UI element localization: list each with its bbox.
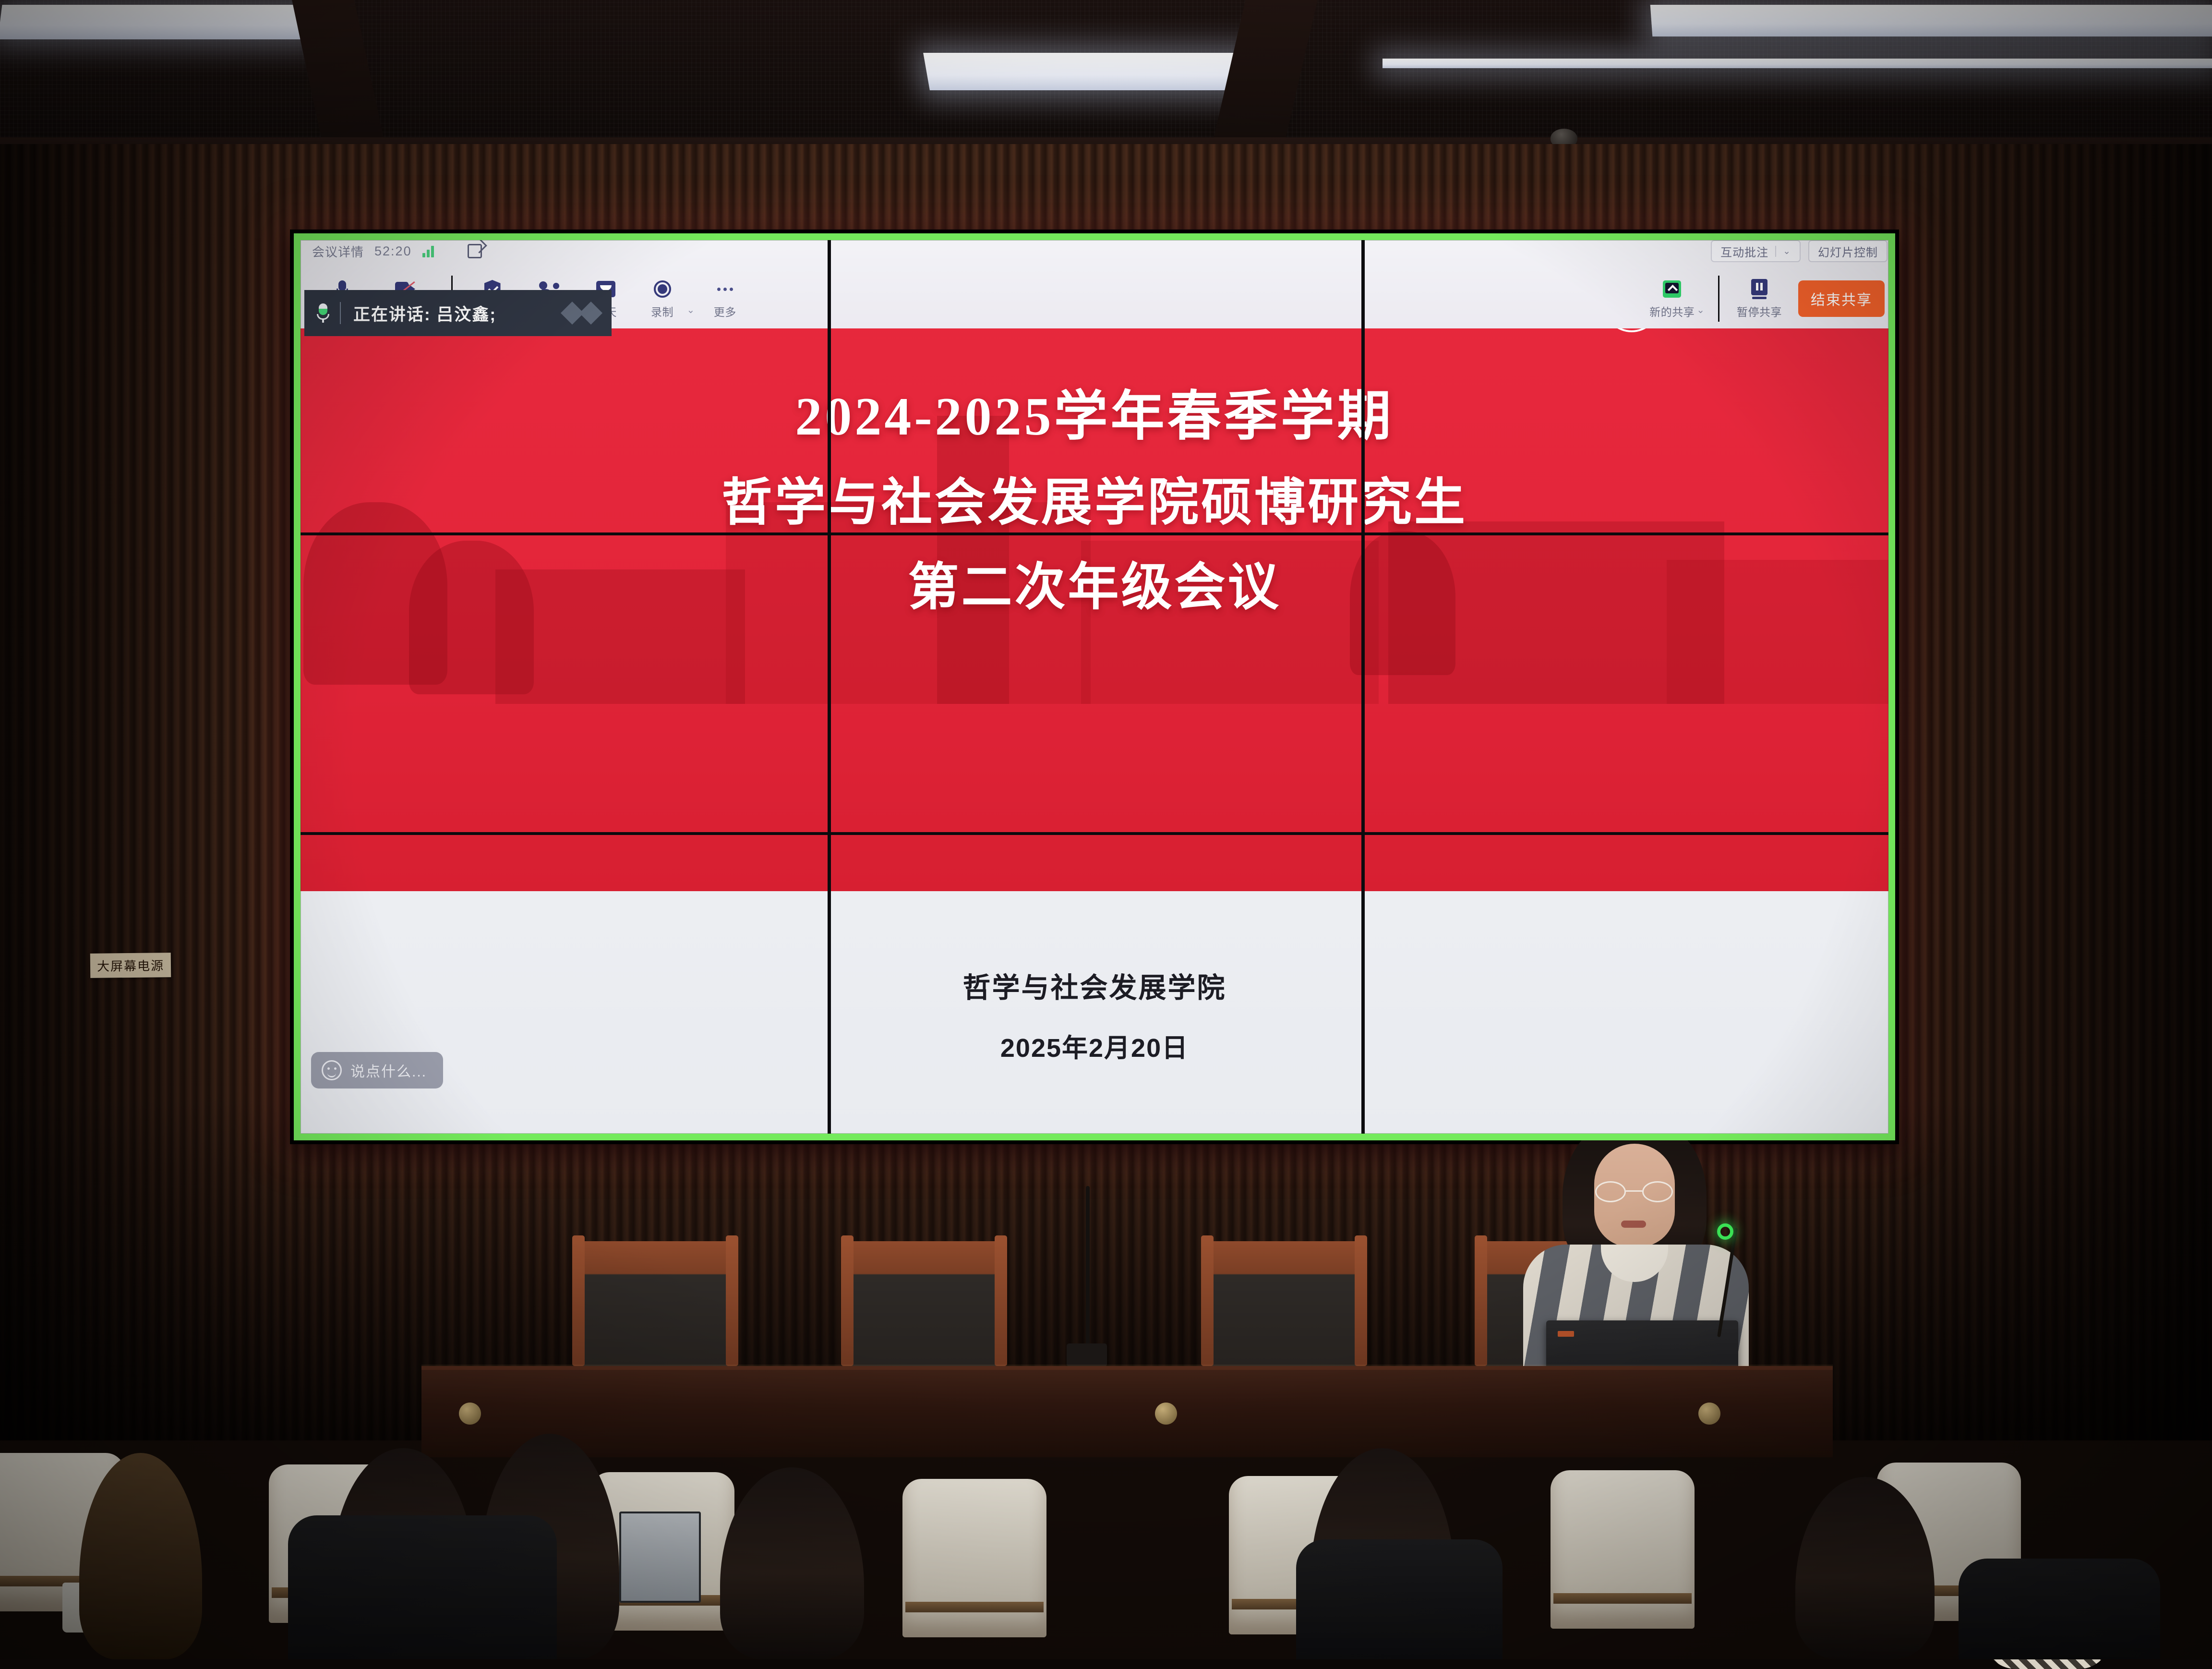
- chevron-down-icon[interactable]: ⌄: [1775, 246, 1791, 257]
- ceiling: [0, 0, 2212, 158]
- share-chevron-down-icon[interactable]: ⌄: [1696, 304, 1705, 316]
- audience-head: [720, 1467, 864, 1659]
- slide-footer-org: 哲学与社会发展学院: [294, 965, 1895, 1005]
- table-microphone-stand: [1086, 1186, 1090, 1349]
- new-share-button[interactable]: 新的共享: [1644, 278, 1700, 319]
- annotation-label: 互动批注: [1720, 243, 1768, 260]
- display-panel-seam: [294, 832, 1895, 835]
- meeting-timer: 52:20: [374, 244, 412, 259]
- audience-area: [0, 1391, 2212, 1659]
- slide-control-button[interactable]: 幻灯片控制: [1808, 240, 1887, 262]
- pause-share-icon: [1751, 278, 1767, 300]
- slide-title-line-1: 2024-2025学年春季学期: [294, 373, 1895, 450]
- slide-title-block: 2024-2025学年春季学期 哲学与社会发展学院硕博研究生 第二次年级会议: [294, 373, 1895, 619]
- annotation-button[interactable]: 互动批注 ⌄: [1711, 240, 1801, 262]
- audience-seat: [1551, 1470, 1695, 1629]
- display-panel-seam: [828, 233, 831, 1140]
- record-label: 录制: [651, 303, 673, 319]
- ceiling-light-panel: [1382, 59, 2212, 68]
- more-dots-icon: [717, 278, 733, 300]
- conference-room: 大屏幕电源: [0, 0, 2212, 1659]
- audience-coat: [1296, 1539, 1503, 1659]
- slide-control-label: 幻灯片控制: [1818, 243, 1878, 260]
- glasses-icon: [1595, 1181, 1673, 1203]
- pause-share-label: 暂停共享: [1737, 303, 1782, 319]
- audience-seat: [902, 1479, 1046, 1637]
- record-icon: [654, 278, 671, 300]
- presenter-mouth: [1621, 1221, 1646, 1228]
- active-speaker-text: 正在讲话: 吕汶鑫;: [353, 301, 496, 326]
- popout-icon[interactable]: [468, 244, 482, 258]
- wall-sign-screen-power: 大屏幕电源: [90, 953, 171, 978]
- end-share-button[interactable]: 结束共享: [1798, 280, 1885, 317]
- zoom-toolbar-top-row: 会议详情 52:20 互动批注 ⌄ 幻灯片控制: [294, 233, 1895, 269]
- slide-footer-block: 哲学与社会发展学院 2025年2月20日: [294, 965, 1895, 1064]
- display-panel-seam: [294, 532, 1895, 535]
- microphone-active-led-icon: [1717, 1223, 1733, 1240]
- microphone-active-icon: [317, 303, 329, 323]
- video-wall-display: 1901 SHANDONG UNIVERSITY 山東大學 SHANDONG U…: [290, 230, 1899, 1144]
- more-label: 更多: [714, 303, 736, 319]
- conference-chair: [576, 1241, 734, 1366]
- zoom-toolbar-top-right: 互动批注 ⌄ 幻灯片控制: [1711, 240, 1887, 262]
- audience-coat: [1959, 1559, 2160, 1659]
- audio-waveform-icon: [564, 305, 599, 321]
- record-chevron-down-icon[interactable]: ⌄: [687, 304, 695, 316]
- active-speaker-banner: 正在讲话: 吕汶鑫;: [304, 290, 612, 336]
- record-button[interactable]: 录制: [634, 278, 691, 319]
- meeting-details[interactable]: 会议详情 52:20: [312, 242, 434, 260]
- slide-title-line-2: 哲学与社会发展学院硕博研究生: [294, 461, 1895, 535]
- signal-bars-icon: [422, 245, 434, 257]
- pause-share-button[interactable]: 暂停共享: [1731, 278, 1788, 319]
- slide-title-line-3: 第二次年级会议: [294, 545, 1895, 619]
- conference-chair: [845, 1241, 1003, 1366]
- display-panel-seam: [1361, 233, 1365, 1140]
- meeting-details-label: 会议详情: [312, 242, 364, 260]
- speaker-divider: [340, 302, 341, 324]
- ceiling-light-panel: [1650, 5, 2212, 36]
- ceiling-light-panel: [923, 53, 1266, 90]
- table-microphone-base: [1067, 1343, 1107, 1367]
- chat-input-placeholder[interactable]: 说点什么...: [350, 1060, 427, 1081]
- audience-laptop: [619, 1512, 701, 1603]
- ceiling-light-panel: [0, 5, 319, 39]
- smiley-icon[interactable]: [322, 1060, 342, 1080]
- conference-chair: [1205, 1241, 1363, 1366]
- shared-screen: 1901 SHANDONG UNIVERSITY 山東大學 SHANDONG U…: [294, 233, 1895, 1140]
- presentation-slide: 1901 SHANDONG UNIVERSITY 山東大學 SHANDONG U…: [294, 233, 1895, 1140]
- share-screen-icon: [1663, 278, 1681, 300]
- toolbar-divider: [1718, 276, 1719, 322]
- audience-coat: [288, 1515, 557, 1659]
- new-share-label: 新的共享: [1649, 303, 1695, 319]
- slide-footer-date: 2025年2月20日: [294, 1027, 1895, 1064]
- chat-composer[interactable]: 说点什么...: [311, 1052, 443, 1088]
- more-button[interactable]: 更多: [697, 278, 753, 319]
